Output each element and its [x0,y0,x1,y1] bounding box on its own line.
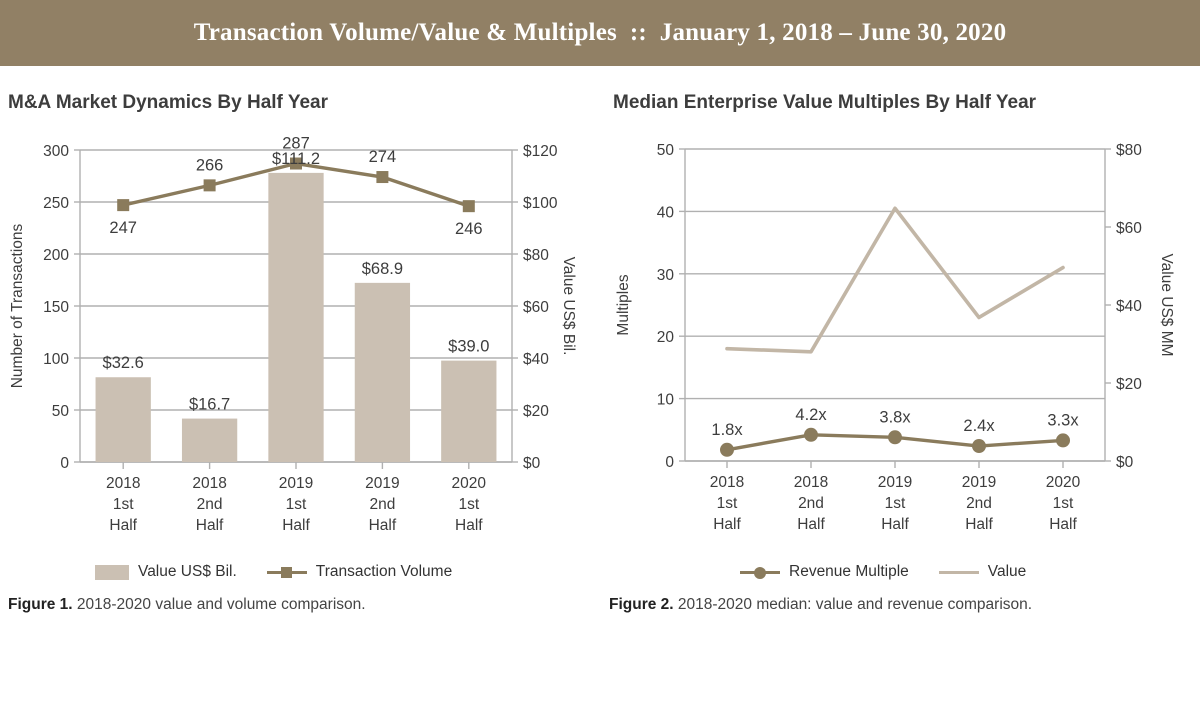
figure2-caption-bold: Figure 2. [609,596,674,613]
y-axis-title-right: Value US$ Bil. [560,257,577,356]
y-tick-label-left: 300 [43,143,69,160]
y-tick-label-right: $60 [1116,220,1142,237]
data-point-marker[interactable] [888,430,902,444]
data-point-marker[interactable] [720,443,734,457]
x-tick-label: 2018 [710,474,744,491]
bar[interactable] [268,173,323,462]
y-tick-label-right: $20 [1116,376,1142,393]
figure1-chart: 050100150200250300$0$20$40$60$80$100$120… [0,66,600,606]
x-tick-label: Half [282,517,310,534]
figure1-legend: Value US$ Bil. Transaction Volume [95,563,452,581]
x-tick-label: 2nd [369,496,395,513]
x-tick-label: Half [797,516,825,533]
x-tick-label: Half [109,517,137,534]
x-tick-label: 2018 [192,475,226,492]
data-point-marker[interactable] [463,200,475,212]
y-tick-label-left: 30 [657,267,675,284]
x-tick-label: 2019 [365,475,399,492]
line-circle-swatch-icon [740,565,780,579]
data-point-marker[interactable] [117,199,129,211]
data-label: $68.9 [362,260,403,278]
y-tick-label-left: 200 [43,247,69,264]
figure1-panel: M&A Market Dynamics By Half Year 0501001… [0,66,600,727]
y-tick-label-left: 0 [665,454,674,471]
legend-label-revenue-multiple: Revenue Multiple [789,563,909,581]
x-tick-label: 1st [458,496,479,513]
y-tick-label-left: 100 [43,351,69,368]
legend-item-value[interactable]: Value [939,563,1027,581]
y-tick-label-left: 150 [43,299,69,316]
y-tick-label-left: 50 [657,142,675,159]
x-tick-label: Half [713,516,741,533]
x-tick-label: 2019 [878,474,912,491]
page-title: Transaction Volume/Value & Multiples :: … [194,19,1007,47]
data-point-marker[interactable] [204,179,216,191]
y-tick-label-right: $80 [523,247,549,264]
x-tick-label: 1st [1053,495,1074,512]
line-plain-swatch-icon [939,565,979,579]
data-label: 3.8x [879,408,911,426]
y-axis-title-right: Value US$ MM [1158,253,1175,356]
x-tick-label: 2018 [794,474,828,491]
legend-item-transaction-volume[interactable]: Transaction Volume [267,563,452,581]
data-label: 4.2x [795,406,827,424]
data-label: $111.2 [272,150,320,168]
legend-label-transaction-volume: Transaction Volume [316,563,452,581]
data-label: $39.0 [448,338,489,356]
x-tick-label: Half [881,516,909,533]
figure1-caption-text: 2018-2020 value and volume comparison. [73,596,366,613]
data-label: 3.3x [1047,411,1079,429]
figure2-panel: Median Enterprise Value Multiples By Hal… [600,66,1200,727]
y-axis-title-left: Number of Transactions [9,223,26,388]
figure2-caption-text: 2018-2020 median: value and revenue comp… [674,596,1032,613]
data-label: 266 [196,156,224,174]
legend-label-value-bil: Value US$ Bil. [138,563,237,581]
x-tick-label: 1st [717,495,738,512]
data-label: 247 [109,219,137,237]
y-tick-label-left: 50 [52,403,70,420]
x-tick-label: 1st [885,495,906,512]
y-tick-label-left: 0 [60,455,69,472]
y-tick-label-right: $120 [523,143,558,160]
y-tick-label-left: 10 [657,392,675,409]
x-tick-label: 2019 [962,474,996,491]
x-tick-label: 1st [286,496,307,513]
data-label: $16.7 [189,396,230,414]
y-tick-label-left: 20 [657,329,675,346]
data-label: 2.4x [963,417,995,435]
data-label: 246 [455,220,483,238]
x-tick-label: Half [369,517,397,534]
x-tick-label: 2019 [279,475,313,492]
data-label: 1.8x [711,421,743,439]
y-tick-label-right: $80 [1116,142,1142,159]
x-tick-label: 2nd [197,496,223,513]
figure1-caption: Figure 1. 2018-2020 value and volume com… [8,596,366,614]
y-tick-label-right: $40 [523,351,549,368]
y-axis-title-left: Multiples [615,274,632,335]
y-tick-label-right: $0 [1116,454,1134,471]
x-tick-label: Half [1049,516,1077,533]
y-tick-label-right: $100 [523,195,558,212]
y-tick-label-right: $40 [1116,298,1142,315]
legend-item-revenue-multiple[interactable]: Revenue Multiple [740,563,909,581]
bar[interactable] [355,283,410,462]
data-label: 274 [369,148,397,166]
bar-swatch-icon [95,565,129,580]
page-root: Transaction Volume/Value & Multiples :: … [0,0,1200,727]
y-tick-label-right: $60 [523,299,549,316]
x-tick-label: 2020 [452,475,487,492]
figure1-caption-bold: Figure 1. [8,596,73,613]
y-tick-label-left: 250 [43,195,69,212]
data-label: $32.6 [103,354,144,372]
y-tick-label-left: 40 [657,204,675,221]
figure2-chart: 01020304050$0$20$40$60$8020181stHalf2018… [600,66,1200,606]
figure2-caption: Figure 2. 2018-2020 median: value and re… [609,596,1032,614]
bar[interactable] [96,377,151,462]
x-tick-label: 2020 [1046,474,1081,491]
bar[interactable] [182,419,237,462]
x-tick-label: 2nd [966,495,992,512]
data-point-marker[interactable] [972,439,986,453]
x-tick-label: 2nd [798,495,824,512]
y-tick-label-right: $0 [523,455,541,472]
header-banner: Transaction Volume/Value & Multiples :: … [0,0,1200,66]
x-tick-label: Half [196,517,224,534]
data-point-marker[interactable] [376,171,388,183]
legend-label-value: Value [988,563,1027,581]
data-point-marker[interactable] [804,428,818,442]
data-line[interactable] [727,208,1063,352]
y-tick-label-right: $20 [523,403,549,420]
x-tick-label: 2018 [106,475,140,492]
data-point-marker[interactable] [1056,433,1070,447]
x-tick-label: 1st [113,496,134,513]
legend-item-value-bil[interactable]: Value US$ Bil. [95,563,237,581]
line-square-swatch-icon [267,565,307,579]
figure2-legend: Revenue Multiple Value [740,563,1026,581]
bar[interactable] [441,361,496,462]
x-tick-label: Half [965,516,993,533]
x-tick-label: Half [455,517,483,534]
data-label: 287 [282,135,310,153]
